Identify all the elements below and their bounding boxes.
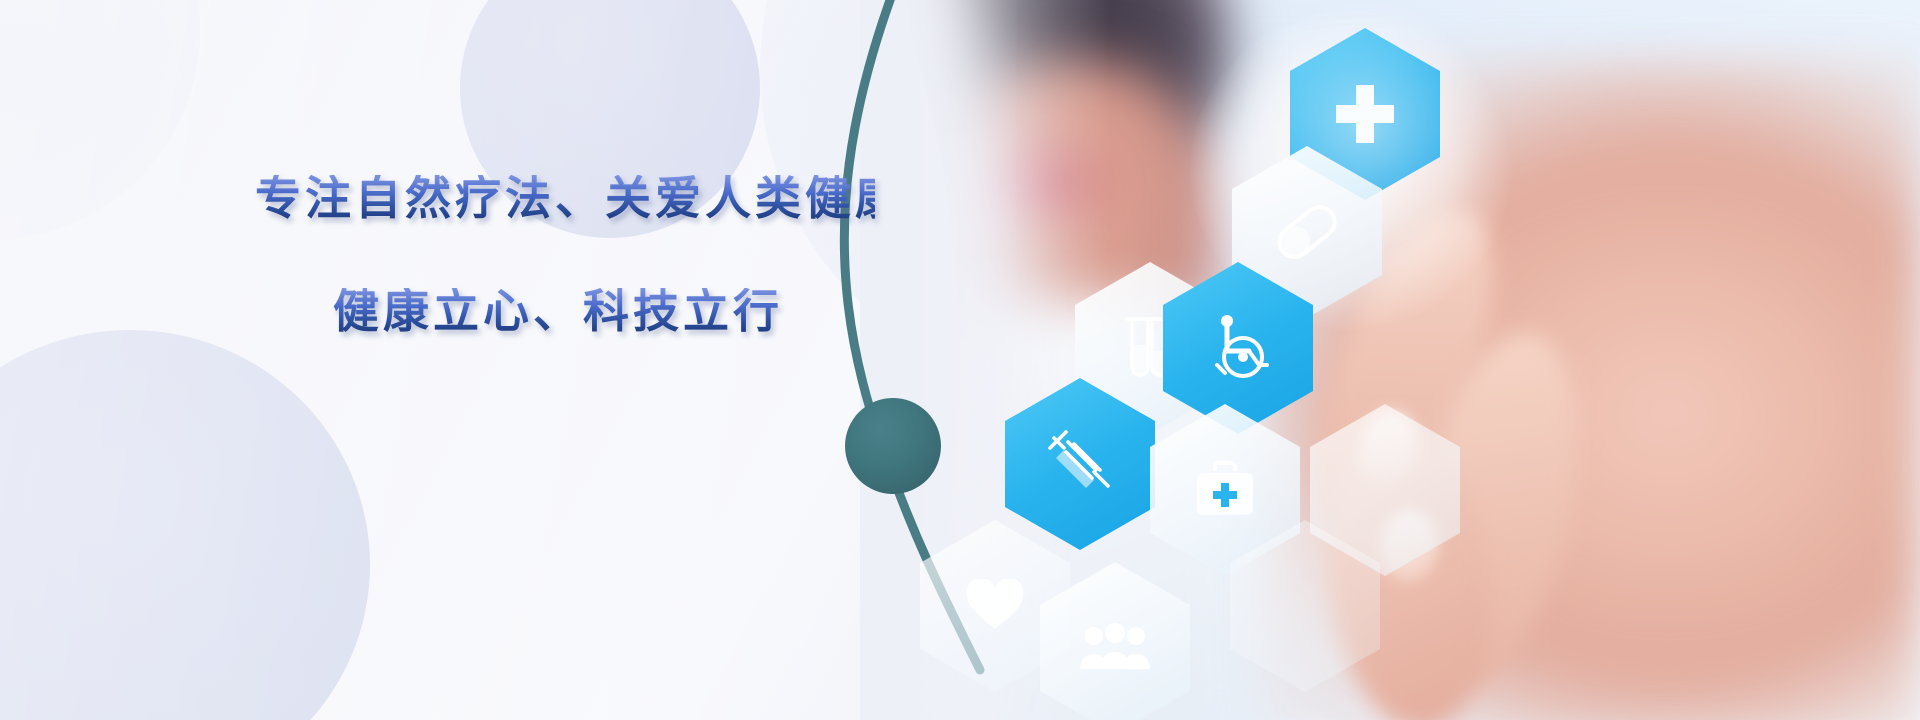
medical-bag-icon — [1193, 461, 1257, 519]
headline-line-1: 专注自然疗法、关爱人类健康 — [255, 175, 875, 221]
headline-group: 专注自然疗法、关爱人类健康 健康立心、科技立行 — [255, 175, 875, 334]
wheelchair-icon — [1203, 313, 1273, 383]
syringe-icon — [1044, 428, 1116, 500]
heart-icon — [965, 579, 1025, 633]
hero-banner: 专注自然疗法、关爱人类健康 健康立心、科技立行 — [0, 0, 1920, 720]
hexagon-cluster — [900, 0, 1540, 720]
headline-line-2: 健康立心、科技立行 — [333, 288, 875, 334]
pill-capsule-icon — [1270, 201, 1344, 263]
people-group-icon — [1080, 623, 1150, 673]
